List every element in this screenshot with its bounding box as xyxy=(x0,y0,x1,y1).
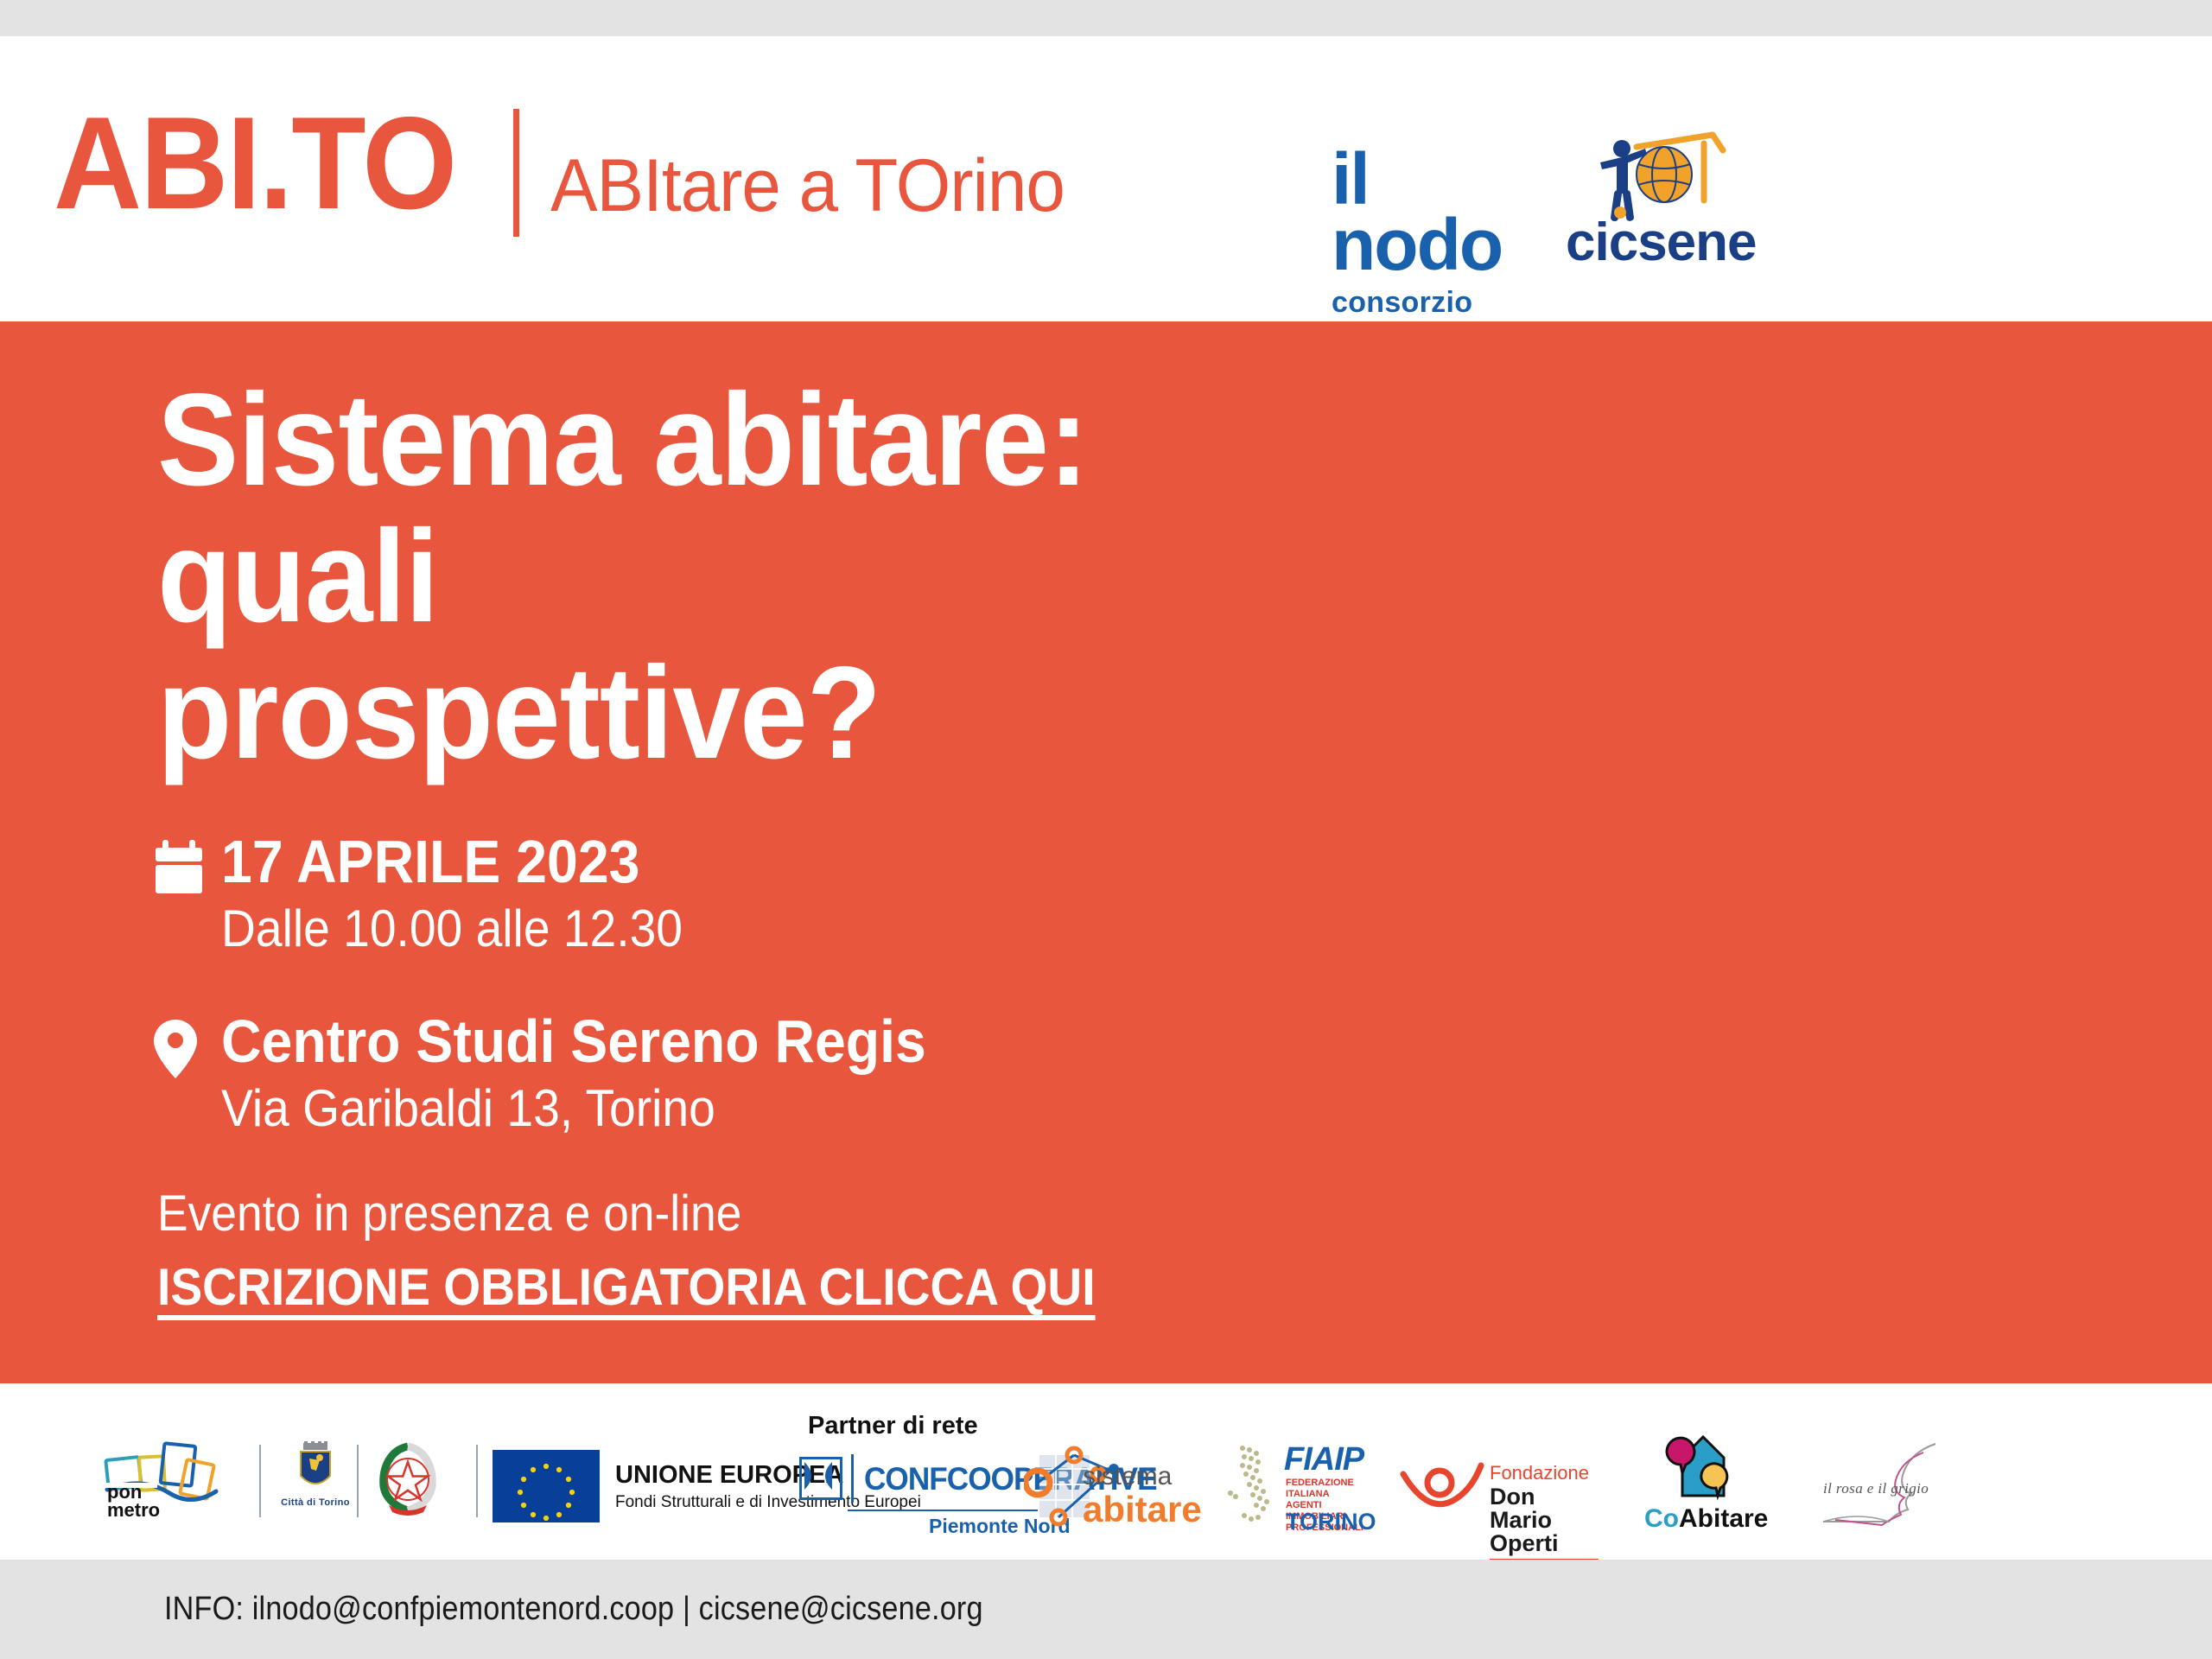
calendar-icon xyxy=(154,829,221,893)
citta-di-torino-logo: Città di Torino xyxy=(276,1441,354,1521)
partners-title: Partner di rete xyxy=(808,1412,978,1440)
sistema-abitare-line2: abitare xyxy=(1083,1491,1202,1528)
event-location-row: Centro Studi Sereno Regis Via Garibaldi … xyxy=(154,1009,988,1139)
title-line-1: Sistema abitare: xyxy=(157,372,1282,508)
operti-line1: Fondazione xyxy=(1490,1464,1589,1483)
fiaip-logo: FIAIP FEDERAZIONE ITALIANAAGENTI IMMOBIL… xyxy=(1218,1440,1374,1535)
coabitare-wordmark: CoAbitare xyxy=(1644,1506,1748,1532)
abito-logo: ABI.TO ABItare a TOrino xyxy=(54,104,1092,237)
il-rosa-e-il-grigio-logo: il rosa e il grigio xyxy=(1806,1439,1944,1529)
ilnodo-wordmark: il nodo xyxy=(1332,147,1548,277)
ponmetro-label: pon metro xyxy=(107,1484,160,1520)
sistema-abitare-text: sistema abitare xyxy=(1083,1464,1202,1528)
il-rosa-e-il-grigio-wordmark: il rosa e il grigio xyxy=(1823,1480,1929,1497)
italy-map-icon xyxy=(1218,1440,1281,1533)
map-pin-icon xyxy=(154,1009,221,1078)
operti-line2: Don Mario Operti xyxy=(1490,1485,1599,1561)
poster-header: ABI.TO ABItare a TOrino il nodo consorzi… xyxy=(0,36,2212,321)
confcooperative-underline xyxy=(848,1510,1038,1511)
registration-cta: Evento in presenza e on-line ISCRIZIONE … xyxy=(157,1184,1177,1319)
ilnodo-subtitle: consorzio xyxy=(1332,286,1548,320)
footer-info-bar: INFO: ilnodo@confpiemontenord.coop | cic… xyxy=(0,1560,2212,1659)
fondazione-operti-logo: Fondazione Don Mario Operti xyxy=(1400,1452,1599,1529)
cicsene-house-figure-icon xyxy=(1574,128,1738,223)
sistema-abitare-line1: sistema xyxy=(1083,1464,1202,1490)
partner-divider-3 xyxy=(476,1445,478,1517)
ponmetro-label-line2: metro xyxy=(107,1502,160,1520)
top-grey-strip xyxy=(0,0,2212,36)
logo-divider-rule xyxy=(513,109,519,237)
event-date-value: 17 APRILE 2023 xyxy=(221,829,683,893)
torino-crest-icon xyxy=(294,1441,337,1495)
title-line-3: prospettive? xyxy=(157,645,1282,781)
confcooperative-rule xyxy=(851,1454,854,1503)
torino-label: Città di Torino xyxy=(276,1497,354,1508)
coabitare-house-bubbles-icon xyxy=(1656,1430,1736,1503)
ponmetro-logo: pon metro xyxy=(102,1438,223,1524)
partner-divider-1 xyxy=(259,1445,261,1517)
event-poster: ABI.TO ABItare a TOrino il nodo consorzi… xyxy=(0,0,2212,1659)
event-address: Via Garibaldi 13, Torino xyxy=(221,1078,926,1139)
italian-republic-emblem-icon xyxy=(373,1441,442,1519)
abito-logo-tagline: ABItare a TOrino xyxy=(550,149,1065,223)
ilnodo-logo: il nodo consorzio xyxy=(1332,147,1548,320)
event-location-text: Centro Studi Sereno Regis Via Garibaldi … xyxy=(221,1009,988,1139)
registration-link[interactable]: ISCRIZIONE OBBLIGATORIA CLICCA QUI xyxy=(157,1256,1096,1319)
fiaip-wordmark: FIAIP xyxy=(1284,1443,1363,1476)
event-date-text: 17 APRILE 2023 Dalle 10.00 alle 12.30 xyxy=(221,829,722,959)
cicsene-logo: cicsene xyxy=(1566,131,1738,270)
event-venue: Centro Studi Sereno Regis xyxy=(221,1009,926,1073)
event-date-row: 17 APRILE 2023 Dalle 10.00 alle 12.30 xyxy=(154,829,722,959)
footer-contact-info: INFO: ilnodo@confpiemontenord.coop | cic… xyxy=(164,1591,983,1628)
title-line-2: quali xyxy=(157,508,1282,645)
confcooperative-mark-icon xyxy=(799,1457,842,1500)
event-time-value: Dalle 10.00 alle 12.30 xyxy=(221,899,683,959)
cicsene-wordmark: cicsene xyxy=(1566,216,1757,270)
abito-logo-wordmark: ABI.TO xyxy=(54,104,455,225)
coabitare-logo: CoAbitare xyxy=(1644,1430,1748,1534)
operti-swoosh-icon xyxy=(1400,1453,1486,1522)
event-mode-label: Evento in presenza e on-line xyxy=(157,1184,1096,1244)
fiaip-city: TORINO xyxy=(1286,1510,1376,1534)
coabitare-prefix: Co xyxy=(1644,1504,1679,1533)
eu-flag-icon xyxy=(493,1450,600,1522)
repubblica-italiana-logo xyxy=(373,1441,442,1519)
sistema-abitare-logo: sistema abitare xyxy=(1024,1441,1162,1535)
page-title: Sistema abitare: quali prospettive? xyxy=(157,372,1282,781)
partner-divider-2 xyxy=(357,1445,359,1517)
coabitare-suffix: Abitare xyxy=(1679,1504,1768,1533)
